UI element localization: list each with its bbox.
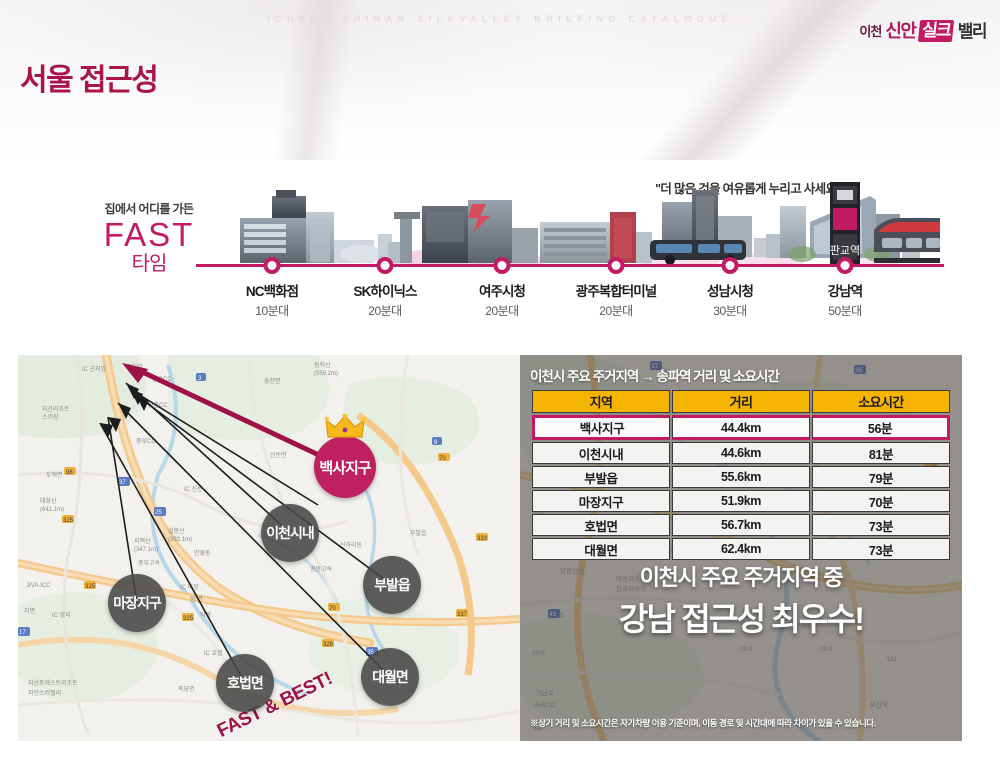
svg-text:설봉산: 설봉산 xyxy=(168,527,185,535)
timeline-axis xyxy=(196,264,944,267)
svg-text:지산포레스트리조트: 지산포레스트리조트 xyxy=(28,679,78,687)
logo-shinan: 신안 xyxy=(885,22,915,40)
table-col-2: 거리 xyxy=(672,390,810,413)
table-cell-2: 56.7km xyxy=(672,514,810,536)
svg-text:흥천면: 흥천면 xyxy=(264,377,281,385)
brand-logo: 이천 신안 실크 밸리 xyxy=(859,20,986,42)
header-band: ICHEON SHINAN SILKVALLEY BRIEFING CATALO… xyxy=(0,0,1000,160)
svg-text:부발읍: 부발읍 xyxy=(410,529,427,537)
timeline-dot-5[interactable] xyxy=(722,257,739,274)
logo-icheon: 이천 xyxy=(859,25,881,38)
svg-text:325: 325 xyxy=(63,518,74,524)
timeline-stop-name: 여주시청 xyxy=(479,280,525,300)
fast-tagline: 집에서 어디를 가든 FAST 타임 xyxy=(84,200,214,276)
table-cell-3: 81분 xyxy=(812,442,950,464)
table-row: 이천시내44.6km81분 xyxy=(532,442,950,464)
svg-text:(393.1m): (393.1m) xyxy=(168,537,192,543)
svg-text:JIVA-ICC: JIVA-ICC xyxy=(26,583,51,589)
svg-text:파인스키밸리: 파인스키밸리 xyxy=(28,689,61,697)
timeline-stop-time: 20분대 xyxy=(353,302,416,319)
table-cell-1: 이천시내 xyxy=(532,442,670,464)
svg-text:지면: 지면 xyxy=(24,607,35,615)
table-cell-2: 44.4km xyxy=(672,415,810,440)
map-marker-호법면[interactable]: 호법면 xyxy=(216,654,274,712)
logo-valley: 밸리 xyxy=(958,23,986,40)
svg-text:70: 70 xyxy=(439,456,446,462)
svg-text:태화산: 태화산 xyxy=(40,497,57,505)
map-marker-이천시내[interactable]: 이천시내 xyxy=(261,504,319,562)
svg-text:(347.1m): (347.1m) xyxy=(134,547,158,553)
panel-claim: 이천시 주요 주거지역 중 강남 접근성 최우수! xyxy=(520,560,962,640)
svg-text:스키장: 스키장 xyxy=(42,413,59,421)
svg-text:IC 곤지암: IC 곤지암 xyxy=(82,365,107,373)
table-cell-2: 51.9km xyxy=(672,490,810,512)
table-cell-2: 62.4km xyxy=(672,538,810,560)
claim-line-1: 이천시 주요 주거지역 중 xyxy=(520,560,962,592)
catalogue-eyebrow: ICHEON SHINAN SILKVALLEY BRIEFING CATALO… xyxy=(0,14,1000,24)
table-cell-1: 마장지구 xyxy=(532,490,670,512)
timeline-stop-time: 10분대 xyxy=(246,302,298,319)
svg-text:37: 37 xyxy=(119,480,126,486)
crown-icon xyxy=(325,414,365,444)
svg-text:지산리조트: 지산리조트 xyxy=(42,405,70,413)
svg-text:70: 70 xyxy=(329,606,336,612)
timeline-stop-name: 성남시청 xyxy=(707,280,753,300)
table-cell-3: 73분 xyxy=(812,538,950,560)
timeline-stop-name: SK하이닉스 xyxy=(353,280,416,300)
svg-text:신둔면: 신둔면 xyxy=(270,451,287,459)
panel-title: 이천시 주요 주거지역 → 송파역 거리 및 소요시간 xyxy=(530,365,779,385)
timeline-stop-4: 광주복합터미널20분대 xyxy=(576,280,657,319)
table-cell-1: 백사지구 xyxy=(532,415,670,440)
timeline-stop-name: 강남역 xyxy=(828,280,863,300)
svg-text:중부고속: 중부고속 xyxy=(138,559,161,567)
table-cell-2: 44.6km xyxy=(672,442,810,464)
timeline-stop-time: 50분대 xyxy=(828,302,863,319)
timeline-stop-3: 여주시청20분대 xyxy=(479,280,525,319)
table-row: 호법면56.7km73분 xyxy=(532,514,950,536)
svg-text:333: 333 xyxy=(477,536,488,542)
table-header-row: 지역거리소요시간 xyxy=(532,390,950,413)
table-cell-2: 55.6km xyxy=(672,466,810,488)
svg-text:도척면: 도척면 xyxy=(46,471,63,479)
svg-text:325: 325 xyxy=(85,584,96,590)
map-marker-부발읍[interactable]: 부발읍 xyxy=(363,556,421,614)
svg-text:98: 98 xyxy=(66,470,73,476)
timeline-stop-name: 광주복합터미널 xyxy=(576,280,657,300)
timeline-stop-6: 강남역50분대 xyxy=(828,280,863,319)
map-marker-대월면[interactable]: 대월면 xyxy=(361,648,419,706)
timeline-dot-4[interactable] xyxy=(608,257,625,274)
fast-tagline-big: FAST xyxy=(84,217,214,253)
svg-text:325: 325 xyxy=(183,616,194,622)
timeline-stop-2: SK하이닉스20분대 xyxy=(353,280,416,319)
timeline-dot-3[interactable] xyxy=(494,257,511,274)
timeline-stop-time: 20분대 xyxy=(479,302,525,319)
svg-text:(641.1m): (641.1m) xyxy=(40,507,64,513)
svg-text:25: 25 xyxy=(155,510,162,516)
timeline-dot-1[interactable] xyxy=(264,257,281,274)
left-map[interactable]: IC 곤지암 곤지암 원적산 (559.2m) 흥천면 남은CC 남촌CC 지산… xyxy=(18,355,520,741)
timeline-stop-1: NC백화점10분대 xyxy=(246,280,298,319)
timeline-dot-6[interactable] xyxy=(837,257,854,274)
table-cell-1: 호법면 xyxy=(532,514,670,536)
table-cell-1: 대월면 xyxy=(532,538,670,560)
panel-footnote: ※상기 거리 및 소요시간은 자가차량 이용 기준이며, 이동 경로 및 시간대… xyxy=(530,717,955,729)
timeline-stop-time: 30분대 xyxy=(707,302,753,319)
svg-text:IC 양지: IC 양지 xyxy=(52,611,71,619)
svg-text:안흥동: 안흥동 xyxy=(194,549,211,557)
table-cell-3: 56분 xyxy=(812,415,950,440)
svg-text:영동고속: 영동고속 xyxy=(310,565,333,573)
claim-line-2: 강남 접근성 최우수! xyxy=(520,594,962,640)
timeline-dot-2[interactable] xyxy=(377,257,394,274)
svg-text:329: 329 xyxy=(323,642,334,648)
logo-silk: 실크 xyxy=(918,20,955,42)
table-row: 부발읍55.6km79분 xyxy=(532,466,950,488)
table-cell-3: 73분 xyxy=(812,514,950,536)
svg-text:원적산: 원적산 xyxy=(314,361,331,369)
map-marker-마장지구[interactable]: 마장지구 xyxy=(108,574,166,632)
table-row: 백사지구44.4km56분 xyxy=(532,415,950,440)
svg-text:신하리동: 신하리동 xyxy=(340,541,363,549)
table-col-1: 지역 xyxy=(532,390,670,413)
timeline-stop-5: 성남시청30분대 xyxy=(707,280,753,319)
table-row: 대월면62.4km73분 xyxy=(532,538,950,560)
svg-text:337: 337 xyxy=(457,612,468,618)
svg-text:IC 호법: IC 호법 xyxy=(204,649,223,657)
right-panel[interactable]: 341 341 서울대 341 한국의길장 남한산성 매송저수지 한국저수지 4… xyxy=(520,355,962,741)
map-marker-백사지구[interactable]: 백사지구 xyxy=(314,436,376,498)
fast-tagline-small: 집에서 어디를 가든 xyxy=(84,200,214,217)
table-cell-3: 70분 xyxy=(812,490,950,512)
fast-tagline-sub: 타임 xyxy=(84,253,214,276)
gangnam-station-illustration: 판교역 xyxy=(816,182,946,268)
timeline-stop-name: NC백화점 xyxy=(246,280,298,300)
table-cell-1: 부발읍 xyxy=(532,466,670,488)
table-cell-3: 79분 xyxy=(812,466,950,488)
table-row: 마장지구51.9km70분 xyxy=(532,490,950,512)
page-title: 서울 접근성 xyxy=(20,55,157,99)
svg-text:판교역: 판교역 xyxy=(830,244,860,257)
table-col-3: 소요시간 xyxy=(812,390,950,413)
svg-text:17: 17 xyxy=(19,630,26,636)
distance-table: 지역거리소요시간 백사지구44.4km56분이천시내44.6km81분부발읍55… xyxy=(530,388,952,562)
svg-text:(559.2m): (559.2m) xyxy=(314,371,338,377)
accessibility-timeline-section: 집에서 어디를 가든 FAST 타임 "더 많은 것을 여유롭게 누리고 사세요… xyxy=(0,160,1000,345)
svg-text:죽당면: 죽당면 xyxy=(178,685,195,693)
timeline-stop-time: 20분대 xyxy=(576,302,657,319)
svg-text:지맥산: 지맥산 xyxy=(134,537,151,545)
